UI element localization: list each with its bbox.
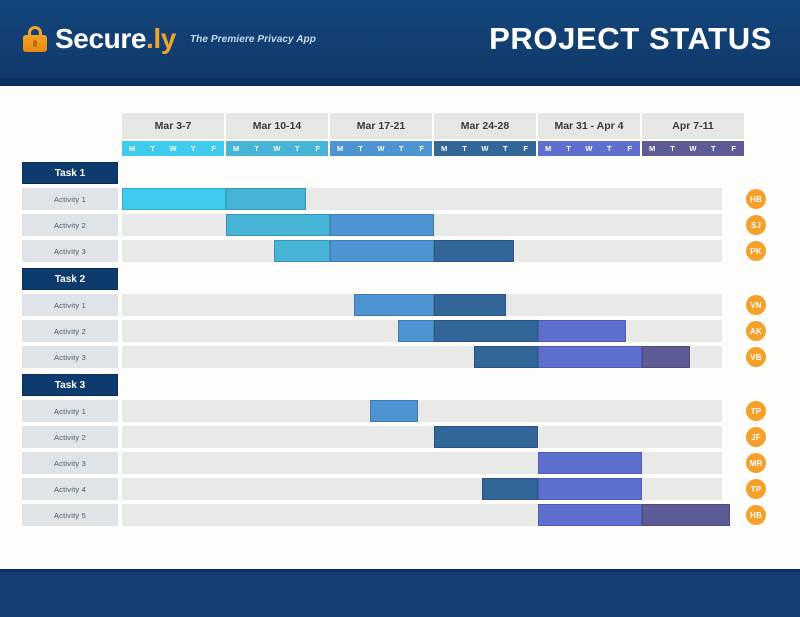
day-label: T [599, 141, 619, 156]
activity-row: Activity 3PK [22, 240, 778, 262]
assignee-avatar[interactable]: JF [746, 427, 766, 447]
gantt-bar-segment[interactable] [474, 346, 538, 368]
week-header-cell: Apr 7-11 [642, 113, 746, 139]
task-row: Task 3 [22, 374, 778, 396]
gantt-bar-segment[interactable] [538, 452, 642, 474]
week-header-label: Mar 3-7 [155, 120, 192, 132]
activity-track [122, 294, 722, 316]
activity-label[interactable]: Activity 2 [22, 426, 118, 448]
week-days-cell: MTWTF [538, 141, 642, 156]
activity-label[interactable]: Activity 3 [22, 346, 118, 368]
brand-ly: ly [153, 23, 176, 54]
activity-label[interactable]: Activity 3 [22, 240, 118, 262]
page-title: PROJECT STATUS [489, 21, 772, 57]
task-label[interactable]: Task 2 [22, 268, 118, 290]
week-header-label: Apr 7-11 [672, 120, 713, 132]
day-label: W [683, 141, 703, 156]
activity-track [122, 188, 722, 210]
activity-track [122, 240, 722, 262]
gantt-rows: Task 1Activity 1HBActivity 2SJActivity 3… [22, 162, 778, 526]
day-label: F [516, 141, 536, 156]
gantt-bar-segment[interactable] [434, 426, 538, 448]
week-days-cell: MTWTF [642, 141, 746, 156]
day-label: T [391, 141, 411, 156]
day-label: T [287, 141, 307, 156]
day-label: W [371, 141, 391, 156]
gantt-bar-segment[interactable] [226, 188, 306, 210]
week-header-cell: Mar 17-21 [330, 113, 434, 139]
day-label: T [454, 141, 474, 156]
gantt-bar-segment[interactable] [538, 504, 642, 526]
activity-row: Activity 2JF [22, 426, 778, 448]
gantt-bar-segment[interactable] [434, 240, 514, 262]
activity-label[interactable]: Activity 1 [22, 188, 118, 210]
activity-row: Activity 1HB [22, 188, 778, 210]
day-label: M [642, 141, 662, 156]
activity-track [122, 452, 722, 474]
activity-label[interactable]: Activity 2 [22, 320, 118, 342]
activity-track [122, 400, 722, 422]
assignee-avatar[interactable]: VN [746, 295, 766, 315]
activity-row: Activity 2AK [22, 320, 778, 342]
timeline-day-header: MTWTFMTWTFMTWTFMTWTFMTWTFMTWTF [122, 141, 778, 156]
activity-label[interactable]: Activity 1 [22, 400, 118, 422]
activity-track [122, 346, 722, 368]
week-days-cell: MTWTF [122, 141, 226, 156]
assignee-avatar[interactable]: VB [746, 347, 766, 367]
day-label: T [495, 141, 515, 156]
assignee-avatar[interactable]: AK [746, 321, 766, 341]
task-label[interactable]: Task 1 [22, 162, 118, 184]
day-label: T [558, 141, 578, 156]
week-header-cell: Mar 24-28 [434, 113, 538, 139]
activity-track [122, 478, 722, 500]
brand-tagline: The Premiere Privacy App [190, 34, 316, 45]
timeline-week-header: Mar 3-7Mar 10-14Mar 17-21Mar 24-28Mar 31… [122, 113, 778, 139]
assignee-avatar[interactable]: SJ [746, 215, 766, 235]
project-status-page: Secure.ly The Premiere Privacy App PROJE… [0, 0, 800, 617]
day-label: F [308, 141, 328, 156]
gantt-bar-segment[interactable] [482, 478, 538, 500]
week-header-label: Mar 24-28 [461, 120, 509, 132]
day-label: F [620, 141, 640, 156]
gantt-bar-segment[interactable] [538, 346, 642, 368]
assignee-avatar[interactable]: TP [746, 479, 766, 499]
week-header-label: Mar 17-21 [357, 120, 405, 132]
day-label: T [350, 141, 370, 156]
day-label: M [330, 141, 350, 156]
day-label: F [204, 141, 224, 156]
day-label: T [662, 141, 682, 156]
activity-row: Activity 5HB [22, 504, 778, 526]
week-header-cell: Mar 3-7 [122, 113, 226, 139]
assignee-avatar[interactable]: HB [746, 505, 766, 525]
week-header-cell: Mar 31 - Apr 4 [538, 113, 642, 139]
gantt-bar-segment[interactable] [122, 188, 226, 210]
task-row: Task 1 [22, 162, 778, 184]
day-label: T [142, 141, 162, 156]
gantt-grid: Mar 3-7Mar 10-14Mar 17-21Mar 24-28Mar 31… [22, 113, 778, 526]
gantt-bar-segment[interactable] [434, 294, 506, 316]
week-header-label: Mar 10-14 [253, 120, 301, 132]
activity-track [122, 426, 722, 448]
brand-logo[interactable]: Secure.ly The Premiere Privacy App [22, 25, 316, 53]
page-header: Secure.ly The Premiere Privacy App PROJE… [0, 0, 800, 78]
activity-track [122, 504, 722, 526]
activity-label[interactable]: Activity 5 [22, 504, 118, 526]
gantt-bar-segment[interactable] [330, 214, 434, 236]
lock-icon [22, 26, 48, 52]
activity-row: Activity 1VN [22, 294, 778, 316]
header-accent-bar [0, 78, 800, 86]
activity-row: Activity 3MR [22, 452, 778, 474]
gantt-bar-segment[interactable] [434, 320, 538, 342]
gantt-bar-segment[interactable] [226, 214, 330, 236]
activity-label[interactable]: Activity 4 [22, 478, 118, 500]
gantt-chart: Mar 3-7Mar 10-14Mar 17-21Mar 24-28Mar 31… [0, 86, 800, 572]
week-header-cell: Mar 10-14 [226, 113, 330, 139]
assignee-avatar[interactable]: HB [746, 189, 766, 209]
activity-row: Activity 3VB [22, 346, 778, 368]
footer-bar [0, 569, 800, 617]
activity-label[interactable]: Activity 2 [22, 214, 118, 236]
gantt-bar-segment[interactable] [354, 294, 434, 316]
assignee-avatar[interactable]: PK [746, 241, 766, 261]
week-header-label: Mar 31 - Apr 4 [554, 120, 623, 132]
activity-label[interactable]: Activity 1 [22, 294, 118, 316]
day-label: W [267, 141, 287, 156]
day-label: T [246, 141, 266, 156]
gantt-bar-segment[interactable] [538, 478, 642, 500]
activity-label[interactable]: Activity 3 [22, 452, 118, 474]
day-label: M [122, 141, 142, 156]
task-label[interactable]: Task 3 [22, 374, 118, 396]
day-label: W [579, 141, 599, 156]
week-days-cell: MTWTF [330, 141, 434, 156]
task-row: Task 2 [22, 268, 778, 290]
gantt-bar-segment[interactable] [642, 504, 730, 526]
gantt-bar-segment[interactable] [538, 320, 626, 342]
day-label: F [412, 141, 432, 156]
week-days-cell: MTWTF [434, 141, 538, 156]
gantt-bar-segment[interactable] [398, 320, 434, 342]
gantt-bar-segment[interactable] [330, 240, 434, 262]
day-label: M [434, 141, 454, 156]
day-label: W [475, 141, 495, 156]
day-label: W [163, 141, 183, 156]
day-label: T [183, 141, 203, 156]
activity-row: Activity 2SJ [22, 214, 778, 236]
brand-name: Secure.ly [55, 25, 176, 53]
assignee-avatar[interactable]: TP [746, 401, 766, 421]
day-label: M [538, 141, 558, 156]
day-label: M [226, 141, 246, 156]
gantt-bar-segment[interactable] [642, 346, 690, 368]
brand-name-suffix: .ly [146, 23, 176, 54]
activity-track [122, 214, 722, 236]
week-days-cell: MTWTF [226, 141, 330, 156]
assignee-avatar[interactable]: MR [746, 453, 766, 473]
gantt-bar-segment[interactable] [370, 400, 418, 422]
day-label: F [724, 141, 744, 156]
brand-name-first: Secure [55, 23, 146, 54]
activity-row: Activity 1TP [22, 400, 778, 422]
activity-row: Activity 4TP [22, 478, 778, 500]
activity-track [122, 320, 722, 342]
day-label: T [703, 141, 723, 156]
gantt-bar-segment[interactable] [274, 240, 330, 262]
